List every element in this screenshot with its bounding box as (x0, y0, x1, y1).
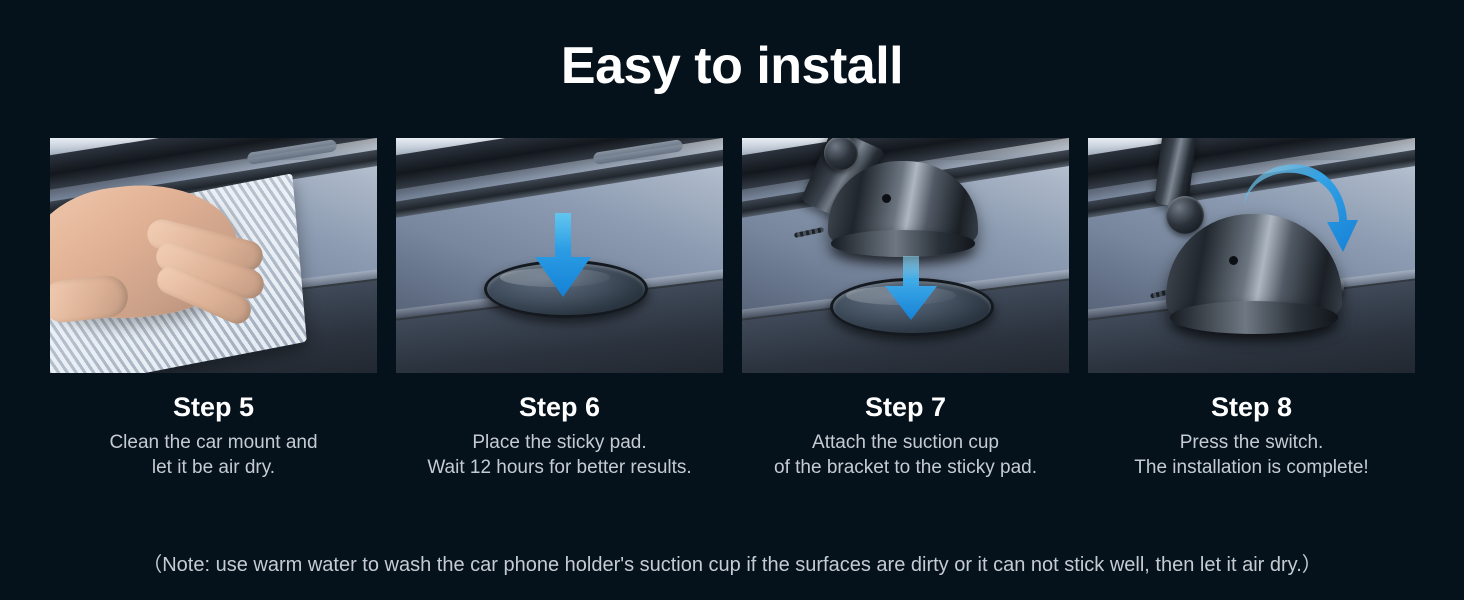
step-5-image (50, 138, 377, 373)
step-5-description: Clean the car mount and let it be air dr… (50, 430, 377, 480)
curved-arrow-icon (1240, 160, 1360, 280)
step-7-description: Attach the suction cup of the bracket to… (742, 430, 1069, 480)
step-card-5: Step 5 Clean the car mount and let it be… (50, 138, 377, 480)
step-card-7: Step 7 Attach the suction cup of the bra… (742, 138, 1069, 480)
suction-cup-rim (831, 230, 975, 256)
suction-cup-rim (1170, 301, 1339, 334)
steps-row: Step 5 Clean the car mount and let it be… (50, 138, 1414, 480)
step-6-caption: Step 6 Place the sticky pad. Wait 12 hou… (396, 393, 723, 480)
footer-note: （Note: use warm water to wash the car ph… (0, 552, 1464, 578)
step-5-title: Step 5 (50, 393, 377, 423)
step-8-description: Press the switch. The installation is co… (1088, 430, 1415, 480)
step-7-title: Step 7 (742, 393, 1069, 423)
step-8-image (1088, 138, 1415, 373)
step-7-image (742, 138, 1069, 373)
page-title: Easy to install (0, 38, 1464, 95)
step-7-caption: Step 7 Attach the suction cup of the bra… (742, 393, 1069, 480)
step-card-6: Step 6 Place the sticky pad. Wait 12 hou… (396, 138, 723, 480)
step-8-caption: Step 8 Press the switch. The installatio… (1088, 393, 1415, 480)
install-instructions-graphic: Easy to install St (0, 0, 1464, 600)
suction-cup-bracket (828, 138, 978, 252)
step-6-description: Place the sticky pad. Wait 12 hours for … (396, 430, 723, 480)
step-8-title: Step 8 (1088, 393, 1415, 423)
step-5-caption: Step 5 Clean the car mount and let it be… (50, 393, 377, 480)
down-arrow-icon (882, 256, 940, 322)
step-6-title: Step 6 (396, 393, 723, 423)
down-arrow-icon (531, 213, 595, 299)
step-6-image (396, 138, 723, 373)
step-card-8: Step 8 Press the switch. The installatio… (1088, 138, 1415, 480)
